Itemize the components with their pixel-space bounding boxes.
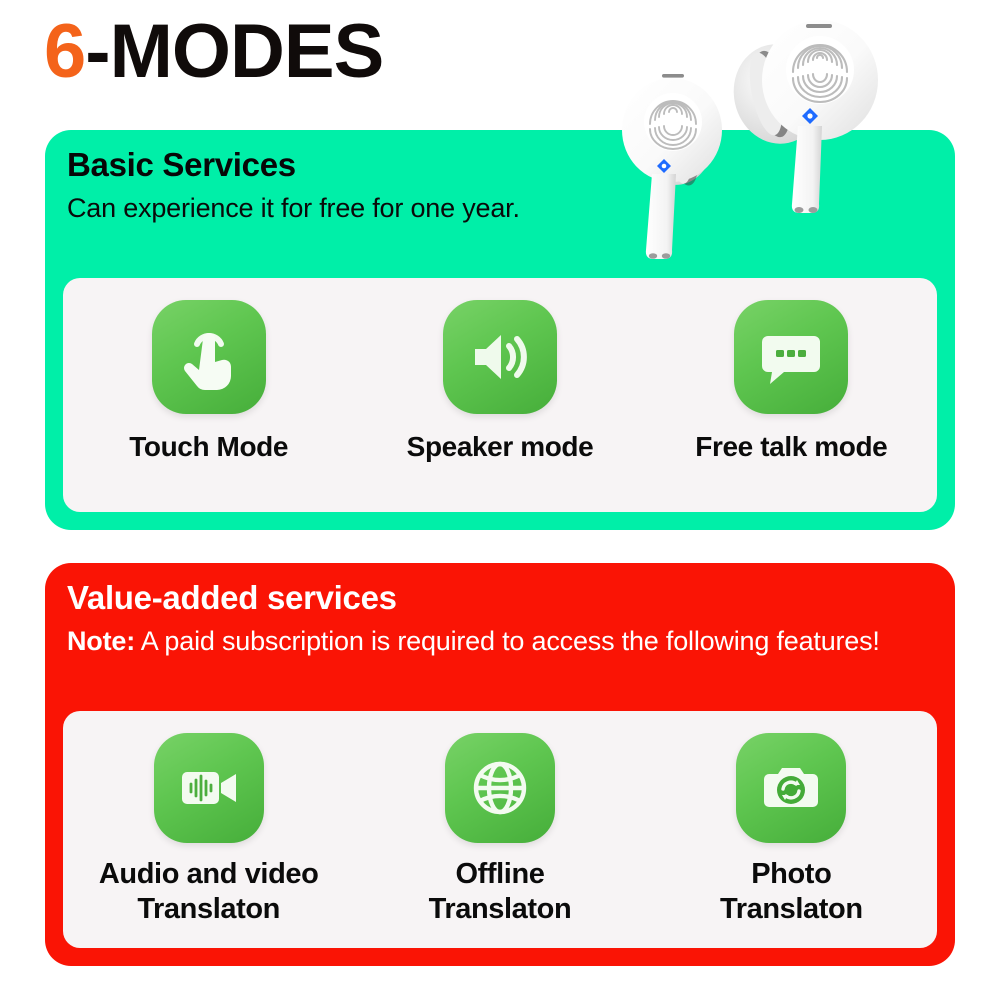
label-line-2: Translaton (720, 892, 863, 927)
value-added-services-title: Value-added services (67, 577, 933, 618)
mode-label-free-talk: Free talk mode (695, 430, 887, 464)
mode-item-touch[interactable]: Touch Mode (73, 300, 344, 464)
earbud-right (725, 20, 878, 213)
page-title-number: 6 (44, 9, 85, 94)
page-title-text: -MODES (85, 9, 383, 94)
mode-item-audio-video-translation[interactable]: Audio and video Translaton (73, 733, 344, 928)
mode-label-speaker: Speaker mode (407, 430, 594, 464)
label-line-2: Translaton (99, 892, 319, 927)
note-label: Note: (67, 626, 135, 656)
mode-label-audio-video-translation: Audio and video Translaton (99, 857, 319, 928)
mode-label-touch: Touch Mode (129, 430, 288, 464)
label-line-1: Photo (751, 858, 831, 890)
speaker-volume-icon (443, 300, 557, 414)
note-text: A paid subscription is required to acces… (135, 626, 880, 656)
camera-sync-icon (736, 733, 846, 843)
basic-services-panel: Touch Mode Speaker mode (63, 278, 937, 512)
label-line-1: Audio and video (99, 858, 319, 890)
mode-label-photo-translation: Photo Translaton (720, 857, 863, 928)
mode-item-photo-translation[interactable]: Photo Translaton (656, 733, 927, 928)
earbuds-image (610, 8, 1000, 300)
chat-bubble-dots-icon (734, 300, 848, 414)
mode-item-free-talk[interactable]: Free talk mode (656, 300, 927, 464)
value-added-services-header: Value-added services Note: A paid subscr… (45, 563, 955, 659)
value-added-services-note: Note: A paid subscription is required to… (67, 624, 933, 659)
promo-page: 6-MODES (0, 0, 1000, 1000)
mode-item-offline-translation[interactable]: Offline Translaton (365, 733, 636, 928)
mode-item-speaker[interactable]: Speaker mode (365, 300, 636, 464)
touch-hand-icon (152, 300, 266, 414)
value-added-services-card: Value-added services Note: A paid subscr… (45, 563, 955, 966)
value-added-services-tiles: Audio and video Translaton (63, 711, 937, 948)
basic-services-tiles: Touch Mode Speaker mode (63, 278, 937, 512)
earbud-left (622, 74, 722, 259)
label-line-1: Offline (455, 858, 544, 890)
globe-icon (445, 733, 555, 843)
page-title: 6-MODES (44, 14, 383, 90)
mode-label-offline-translation: Offline Translaton (429, 857, 572, 928)
value-added-services-panel: Audio and video Translaton (63, 711, 937, 948)
label-line-2: Translaton (429, 892, 572, 927)
video-camera-waveform-icon (154, 733, 264, 843)
